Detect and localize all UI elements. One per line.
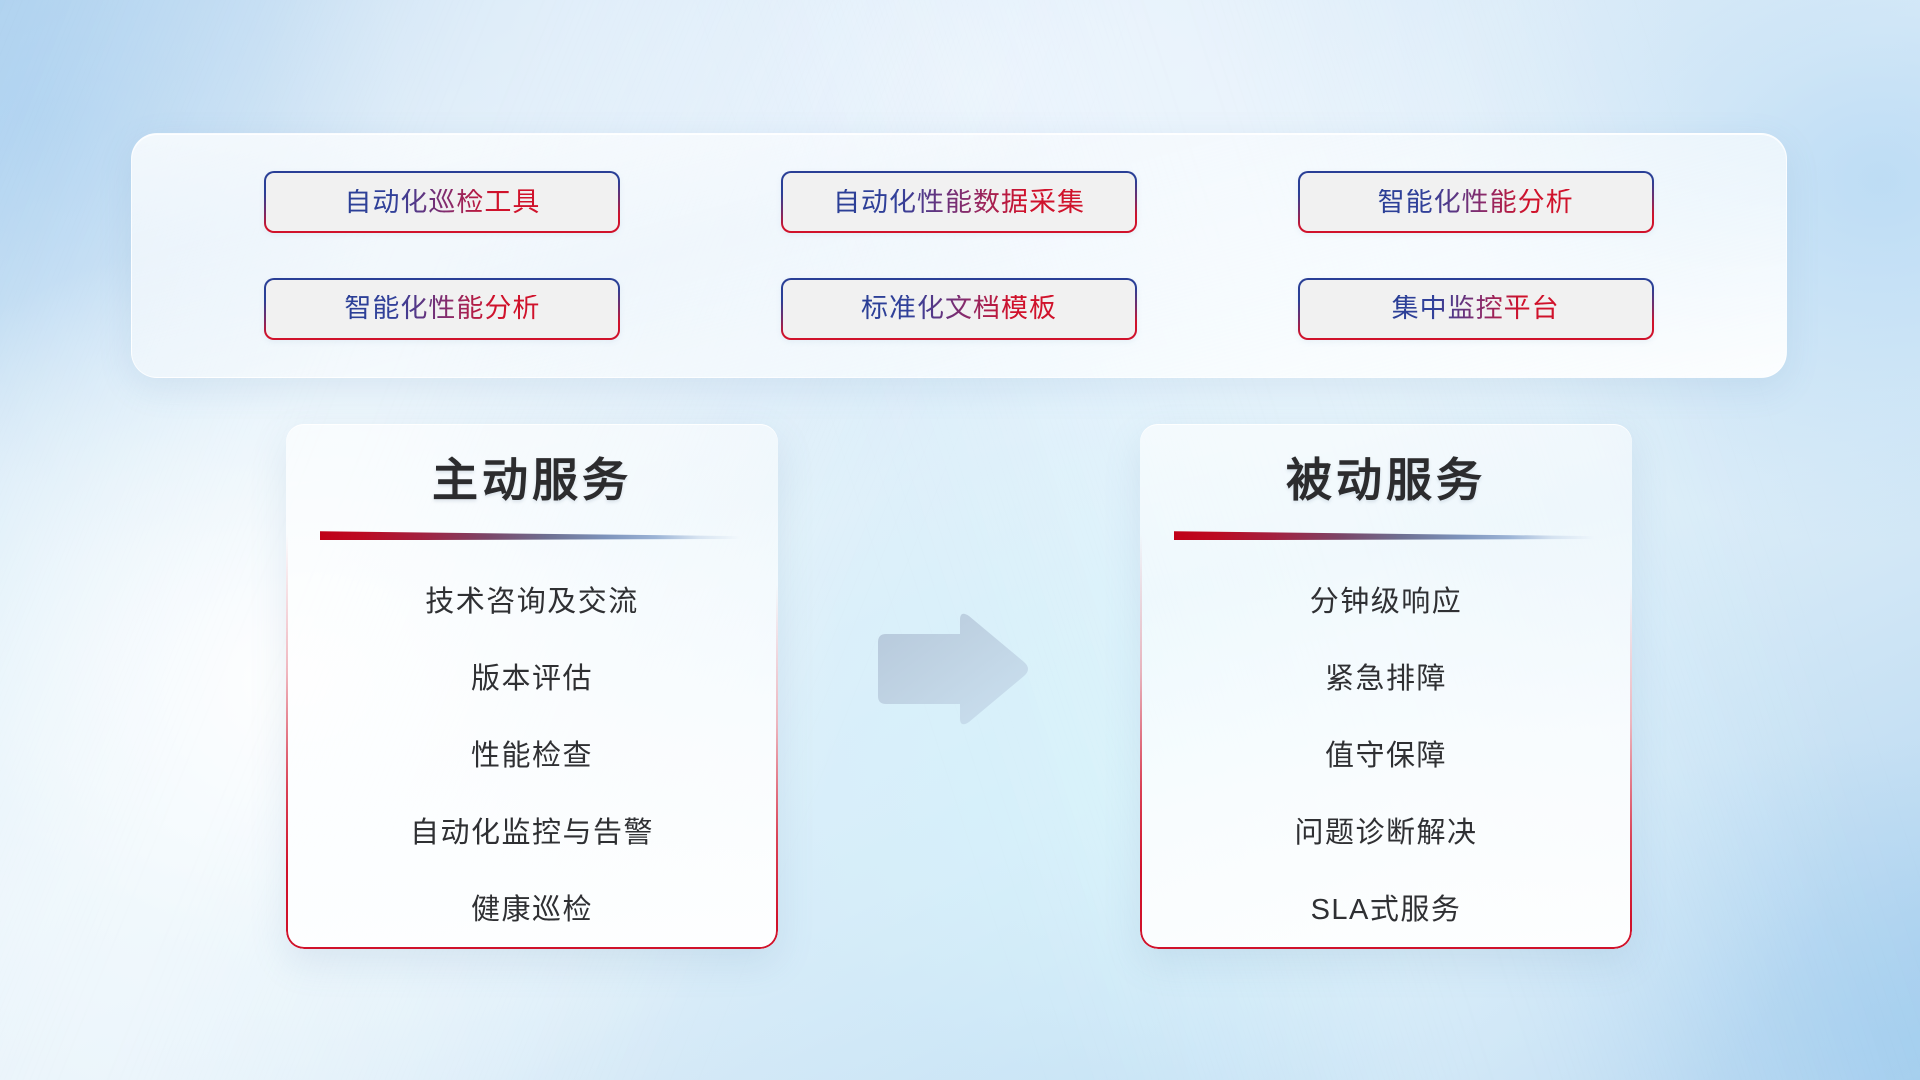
service-card-proactive: 主动服务 技术咨询及交流 版本评估 性能检查 自动化监控与告警 健康巡检 bbox=[286, 424, 778, 949]
list-item: 版本评估 bbox=[320, 641, 744, 718]
capability-tag-2[interactable]: 智能化性能分析 bbox=[1298, 171, 1654, 233]
capability-tag-4[interactable]: 标准化文档模板 bbox=[781, 278, 1137, 340]
capability-tag-label: 标准化文档模板 bbox=[861, 295, 1057, 322]
list-item: 紧急排障 bbox=[1174, 641, 1598, 718]
capability-tag-label: 自动化性能数据采集 bbox=[833, 189, 1085, 216]
list-item: 自动化监控与告警 bbox=[320, 795, 744, 872]
service-card-reactive: 被动服务 分钟级响应 紧急排障 值守保障 问题诊断解决 SLA式服务 bbox=[1140, 424, 1632, 949]
capability-tag-5[interactable]: 集中监控平台 bbox=[1298, 278, 1654, 340]
list-item: 性能检查 bbox=[320, 718, 744, 795]
infographic-canvas: 自动化巡检工具 自动化性能数据采集 智能化性能分析 智能化性能分析 标准化文档模… bbox=[0, 0, 1920, 1080]
list-item: 健康巡检 bbox=[320, 872, 744, 949]
list-item: 值守保障 bbox=[1174, 718, 1598, 795]
card-item-list: 技术咨询及交流 版本评估 性能检查 自动化监控与告警 健康巡检 bbox=[320, 564, 744, 949]
card-divider-rule bbox=[320, 529, 740, 540]
card-title: 主动服务 bbox=[320, 456, 744, 504]
capability-tag-label: 智能化性能分析 bbox=[1378, 189, 1574, 216]
capability-tag-0[interactable]: 自动化巡检工具 bbox=[264, 171, 620, 233]
list-item: 技术咨询及交流 bbox=[320, 564, 744, 641]
card-divider-rule bbox=[1174, 529, 1594, 540]
capability-tag-3[interactable]: 智能化性能分析 bbox=[264, 278, 620, 340]
capability-tag-label: 智能化性能分析 bbox=[344, 295, 540, 322]
card-title: 被动服务 bbox=[1174, 456, 1598, 504]
list-item: 分钟级响应 bbox=[1174, 564, 1598, 641]
list-item: 问题诊断解决 bbox=[1174, 795, 1598, 872]
capability-tag-label: 集中监控平台 bbox=[1392, 295, 1560, 322]
arrow-right-icon bbox=[872, 610, 1032, 728]
capability-tag-label: 自动化巡检工具 bbox=[344, 189, 540, 216]
card-item-list: 分钟级响应 紧急排障 值守保障 问题诊断解决 SLA式服务 bbox=[1174, 564, 1598, 949]
capability-tags-panel: 自动化巡检工具 自动化性能数据采集 智能化性能分析 智能化性能分析 标准化文档模… bbox=[131, 133, 1787, 378]
list-item: SLA式服务 bbox=[1174, 872, 1598, 949]
capability-tag-1[interactable]: 自动化性能数据采集 bbox=[781, 171, 1137, 233]
